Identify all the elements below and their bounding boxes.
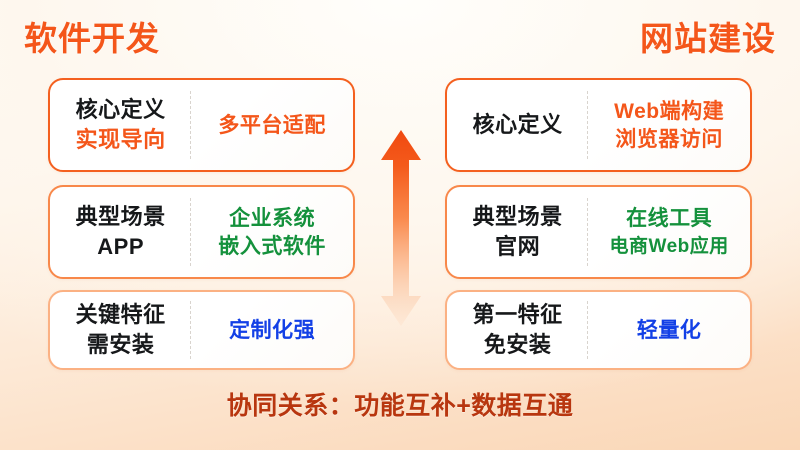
card-value-line-2: 电商Web应用 bbox=[610, 233, 729, 260]
card-label-bottom: 实现导向 bbox=[76, 126, 166, 154]
card-label-bottom: 需安装 bbox=[87, 331, 155, 359]
card-left-key-feature: 关键特征 需安装 定制化强 bbox=[48, 290, 355, 370]
card-right-core-definition: 核心定义 Web端构建 浏览器访问 bbox=[445, 78, 752, 172]
card-value-line-1: 定制化强 bbox=[229, 317, 315, 344]
infographic-canvas: 软件开发 网站建设 核心定义 实现导向 多平台适配 典型场景 APP 企业系统 … bbox=[0, 0, 800, 450]
card-label-bottom: 官网 bbox=[495, 233, 540, 261]
card-value-cell: 多平台适配 bbox=[191, 80, 353, 170]
card-right-key-feature: 第一特征 免安装 轻量化 bbox=[445, 290, 752, 370]
card-value-cell: 企业系统 嵌入式软件 bbox=[191, 187, 353, 277]
card-label-top: 第一特征 bbox=[473, 301, 563, 329]
card-value-cell: 在线工具 电商Web应用 bbox=[588, 187, 750, 277]
card-value-line-1: 在线工具 bbox=[626, 205, 712, 232]
card-right-typical-scenario: 典型场景 官网 在线工具 电商Web应用 bbox=[445, 185, 752, 279]
card-left-typical-scenario: 典型场景 APP 企业系统 嵌入式软件 bbox=[48, 185, 355, 279]
card-value-line-1: 多平台适配 bbox=[218, 112, 326, 139]
card-label-top: 典型场景 bbox=[473, 203, 563, 231]
card-label-cell: 典型场景 APP bbox=[50, 187, 191, 277]
card-label-top: 核心定义 bbox=[473, 111, 563, 139]
card-label-top: 关键特征 bbox=[76, 301, 166, 329]
card-label-top: 核心定义 bbox=[76, 96, 166, 124]
card-label-cell: 第一特征 免安装 bbox=[447, 292, 588, 368]
card-label-bottom: APP bbox=[97, 233, 144, 261]
card-label-cell: 典型场景 官网 bbox=[447, 187, 588, 277]
card-value-cell: Web端构建 浏览器访问 bbox=[588, 80, 750, 170]
card-value-cell: 定制化强 bbox=[191, 292, 353, 368]
card-value-line-2: 嵌入式软件 bbox=[218, 233, 326, 260]
double-vertical-arrow-icon bbox=[378, 128, 424, 328]
card-value-line-1: 企业系统 bbox=[229, 205, 315, 232]
card-left-core-definition: 核心定义 实现导向 多平台适配 bbox=[48, 78, 355, 172]
card-label-cell: 核心定义 实现导向 bbox=[50, 80, 191, 170]
card-label-bottom: 免安装 bbox=[484, 331, 552, 359]
card-value-cell: 轻量化 bbox=[588, 292, 750, 368]
card-label-top: 典型场景 bbox=[76, 203, 166, 231]
card-value-line-2: 浏览器访问 bbox=[615, 126, 723, 153]
card-value-line-1: Web端构建 bbox=[614, 98, 724, 125]
card-label-cell: 关键特征 需安装 bbox=[50, 292, 191, 368]
card-value-line-1: 轻量化 bbox=[637, 317, 702, 344]
left-column-title: 软件开发 bbox=[24, 18, 160, 60]
right-column-title: 网站建设 bbox=[640, 18, 776, 60]
footer-synergy-note: 协同关系：功能互补+数据互通 bbox=[0, 386, 800, 422]
card-label-cell: 核心定义 bbox=[447, 80, 588, 170]
